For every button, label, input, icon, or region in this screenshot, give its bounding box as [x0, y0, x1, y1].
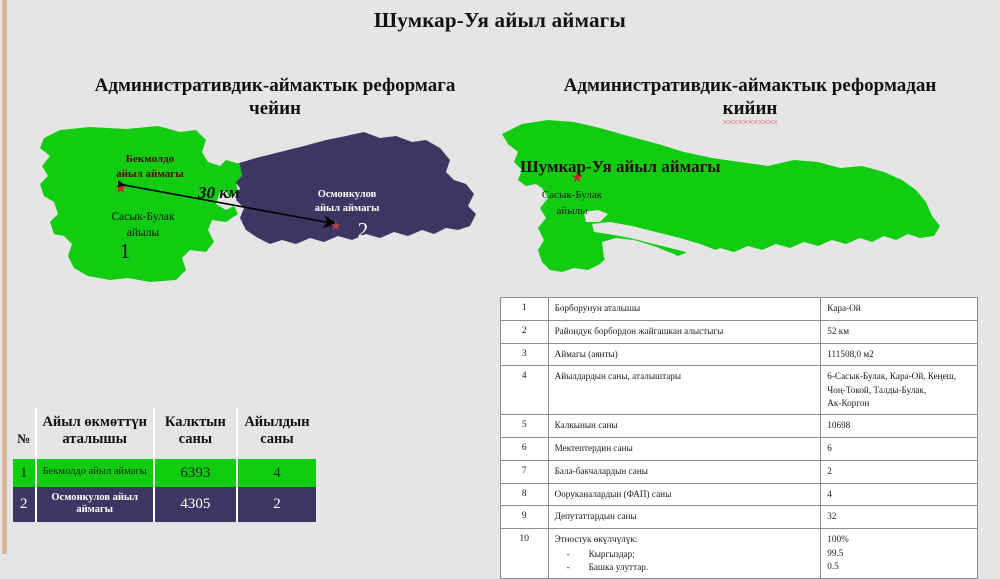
details-row3-value: 111508,0 м2 [821, 343, 978, 366]
details-row4-value-line2: Чоң-Токой, Талды-Булак, [827, 384, 971, 397]
table-row: 2 Осмонкулов айыл аймагы 4305 2 [13, 487, 316, 522]
details-row8-value: 4 [821, 483, 978, 506]
details-row9-value: 32 [821, 506, 978, 529]
details-row7-value: 2 [821, 460, 978, 483]
details-row10-label-list: Кыргыздар; Башка улуттар. [555, 548, 815, 575]
details-row10-label-item1: Кыргыздар; [567, 548, 815, 561]
details-row7-num: 7 [501, 460, 549, 483]
table-row: 7 Бала-бакчалардын саны 2 [501, 460, 978, 483]
table-row: 9 Депутаттардын саны 32 [501, 506, 978, 529]
summary-row2-villages: 2 [237, 487, 316, 522]
summary-header-population: Калктын саны [154, 408, 237, 459]
table-row: 6 Мектептердин саны 6 [501, 438, 978, 461]
details-row9-label: Депутаттардын саны [548, 506, 821, 529]
details-row10-value-line2: 99.5 [827, 547, 971, 560]
details-row4-num: 4 [501, 366, 549, 415]
table-row: 1 Борборунун аталышы Кара-Ой [501, 298, 978, 321]
label-bekmoldo-line2: айыл аймагы [116, 168, 184, 180]
label-osmonkulov-line2: айыл аймагы [315, 203, 380, 214]
details-row7-label: Бала-бакчалардын саны [548, 460, 821, 483]
details-row3-label: Аймагы (аянты) [548, 343, 821, 366]
label-shumkar-uya: Шумкар-Уя айыл аймагы [520, 157, 820, 177]
slide-canvas: Шумкар-Уя айыл аймагы Административдик-а… [0, 0, 1000, 554]
map-number-1: 1 [110, 239, 140, 264]
details-row5-num: 5 [501, 415, 549, 438]
page-title: Шумкар-Уя айыл аймагы [0, 8, 1000, 33]
summary-row1-name: Бекмолдо айыл аймагы [36, 459, 154, 487]
label-osmonkulov-line1: Осмонкулов [318, 189, 377, 200]
details-row10-value-line1: 100% [827, 533, 971, 546]
label-sasyk-bulak-right: Сасык-Булак айылы [527, 188, 617, 220]
summary-header-num: № [13, 408, 36, 459]
summary-header-name: Айыл өкмөттүн аталышы [36, 408, 154, 459]
label-bekmoldo: Бекмолдо айыл аймагы [95, 152, 205, 182]
star-marker-shumkar-uya: ★ [571, 172, 584, 186]
details-row10-label-title: Этностук өкүлчүлүк: [555, 534, 638, 544]
summary-row1-villages: 4 [237, 459, 316, 487]
label-sasyk-bulak-left: Сасык-Булак айылы [88, 209, 198, 241]
details-row1-label: Борборунун аталышы [548, 298, 821, 321]
details-row8-num: 8 [501, 483, 549, 506]
summary-header-villages: Айылдын саны [237, 408, 316, 459]
summary-row2-name: Осмонкулов айыл аймагы [36, 487, 154, 522]
map-number-2: 2 [350, 218, 376, 243]
details-row4-value-line1: 6-Сасык-Булак, Кара-Ой, Кеңеш, [827, 370, 971, 383]
summary-row1-num: 1 [13, 459, 36, 487]
summary-row2-num: 2 [13, 487, 36, 522]
left-subtitle-line1: Административдик-аймактык реформага [95, 75, 456, 96]
details-row3-num: 3 [501, 343, 549, 366]
details-row2-num: 2 [501, 320, 549, 343]
label-osmonkulov: Осмонкулов айыл аймагы [287, 188, 407, 216]
details-row9-num: 9 [501, 506, 549, 529]
left-subtitle-line2: чейин [249, 98, 301, 119]
details-row1-num: 1 [501, 298, 549, 321]
left-accent-strip [2, 0, 7, 554]
details-table: 1 Борборунун аталышы Кара-Ой 2 Райондук … [500, 297, 978, 579]
left-panel-subtitle: Административдик-аймактык реформага чейи… [40, 74, 510, 120]
star-marker-osmonkulov: ★ [330, 219, 342, 232]
details-row6-label: Мектептердин саны [548, 438, 821, 461]
details-row6-value: 6 [821, 438, 978, 461]
details-row4-value-line3: Ак-Коргон [827, 397, 971, 410]
details-row4-value: 6-Сасык-Булак, Кара-Ой, Кеңеш, Чоң-Токой… [821, 366, 978, 415]
distance-label: 30 км [198, 183, 240, 203]
label-sasyk-left-line1: Сасык-Булак [111, 211, 174, 223]
label-bekmoldo-line1: Бекмолдо [126, 153, 174, 165]
details-row10-value-line3: 0.5 [827, 560, 971, 573]
table-row: 1 Бекмолдо айыл аймагы 6393 4 [13, 459, 316, 487]
table-row: 2 Райондук борбордон жайгашкан алыстыгы … [501, 320, 978, 343]
details-row2-value: 52 км [821, 320, 978, 343]
summary-row2-population: 4305 [154, 487, 237, 522]
details-row5-label: Калкынын саны [548, 415, 821, 438]
details-row4-label: Айылдардын саны, аталыштары [548, 366, 821, 415]
details-row6-num: 6 [501, 438, 549, 461]
table-row: 8 Ооруканалардын (ФАП) саны 4 [501, 483, 978, 506]
details-row2-label: Райондук борбордон жайгашкан алыстыгы [548, 320, 821, 343]
table-row: 5 Калкынын саны 10698 [501, 415, 978, 438]
label-sasyk-right-line2: айылы [556, 205, 587, 217]
label-sasyk-left-line2: айылы [127, 227, 159, 239]
summary-table: № Айыл өкмөттүн аталышы Калктын саны Айы… [13, 408, 316, 522]
summary-table-header-row: № Айыл өкмөттүн аталышы Калктын саны Айы… [13, 408, 316, 459]
table-row: 4 Айылдардын саны, аталыштары 6-Сасык-Бу… [501, 366, 978, 415]
details-row1-value: Кара-Ой [821, 298, 978, 321]
details-row5-value: 10698 [821, 415, 978, 438]
details-row8-label: Ооруканалардын (ФАП) саны [548, 483, 821, 506]
right-subtitle-line1: Административдик-аймактык реформадан [564, 75, 937, 96]
table-row: 3 Аймагы (аянты) 111508,0 м2 [501, 343, 978, 366]
summary-row1-population: 6393 [154, 459, 237, 487]
details-row10-label-item2: Башка улуттар. [567, 561, 815, 574]
label-sasyk-right-line1: Сасык-Булак [542, 189, 602, 201]
